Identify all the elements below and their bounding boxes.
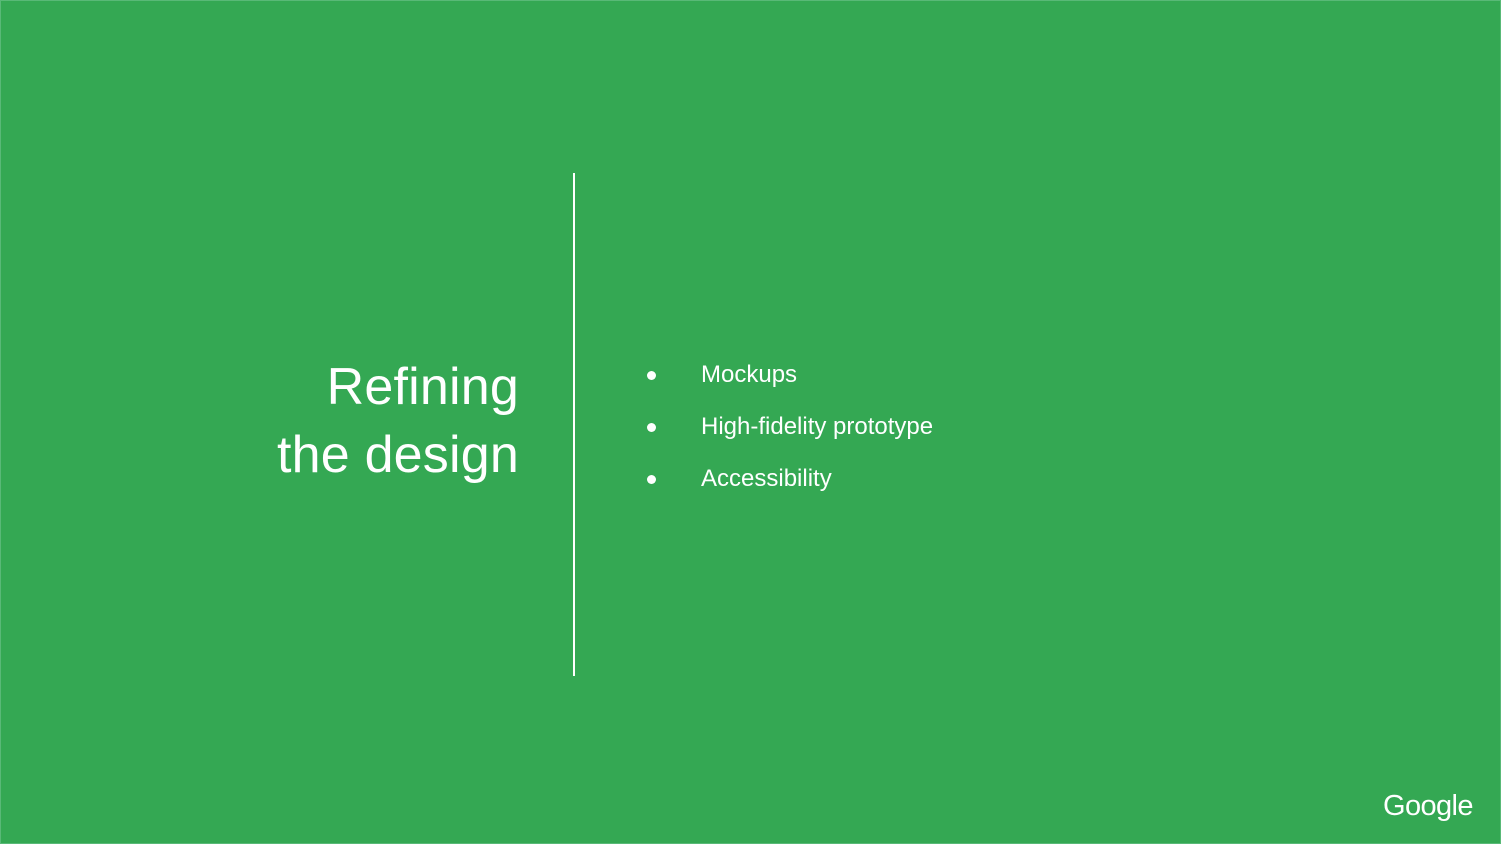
google-wordmark: Google xyxy=(1383,792,1473,821)
list-item: High-fidelity prototype xyxy=(641,401,1421,453)
list-item-label: Accessibility xyxy=(701,453,832,505)
list-item-label: Mockups xyxy=(701,349,797,401)
bullet-list: Mockups High-fidelity prototype Accessib… xyxy=(641,349,1421,505)
bullet-dot-icon xyxy=(647,475,656,484)
list-item-label: High-fidelity prototype xyxy=(701,401,933,453)
list-item: Mockups xyxy=(641,349,1421,401)
vertical-divider-rule xyxy=(573,173,575,676)
bullet-dot-icon xyxy=(647,371,656,380)
slide-title: Refining the design xyxy=(61,353,519,489)
list-item: Accessibility xyxy=(641,453,1421,505)
slide-canvas: Refining the design Mockups High-fidelit… xyxy=(0,0,1501,844)
bullet-dot-icon xyxy=(647,423,656,432)
